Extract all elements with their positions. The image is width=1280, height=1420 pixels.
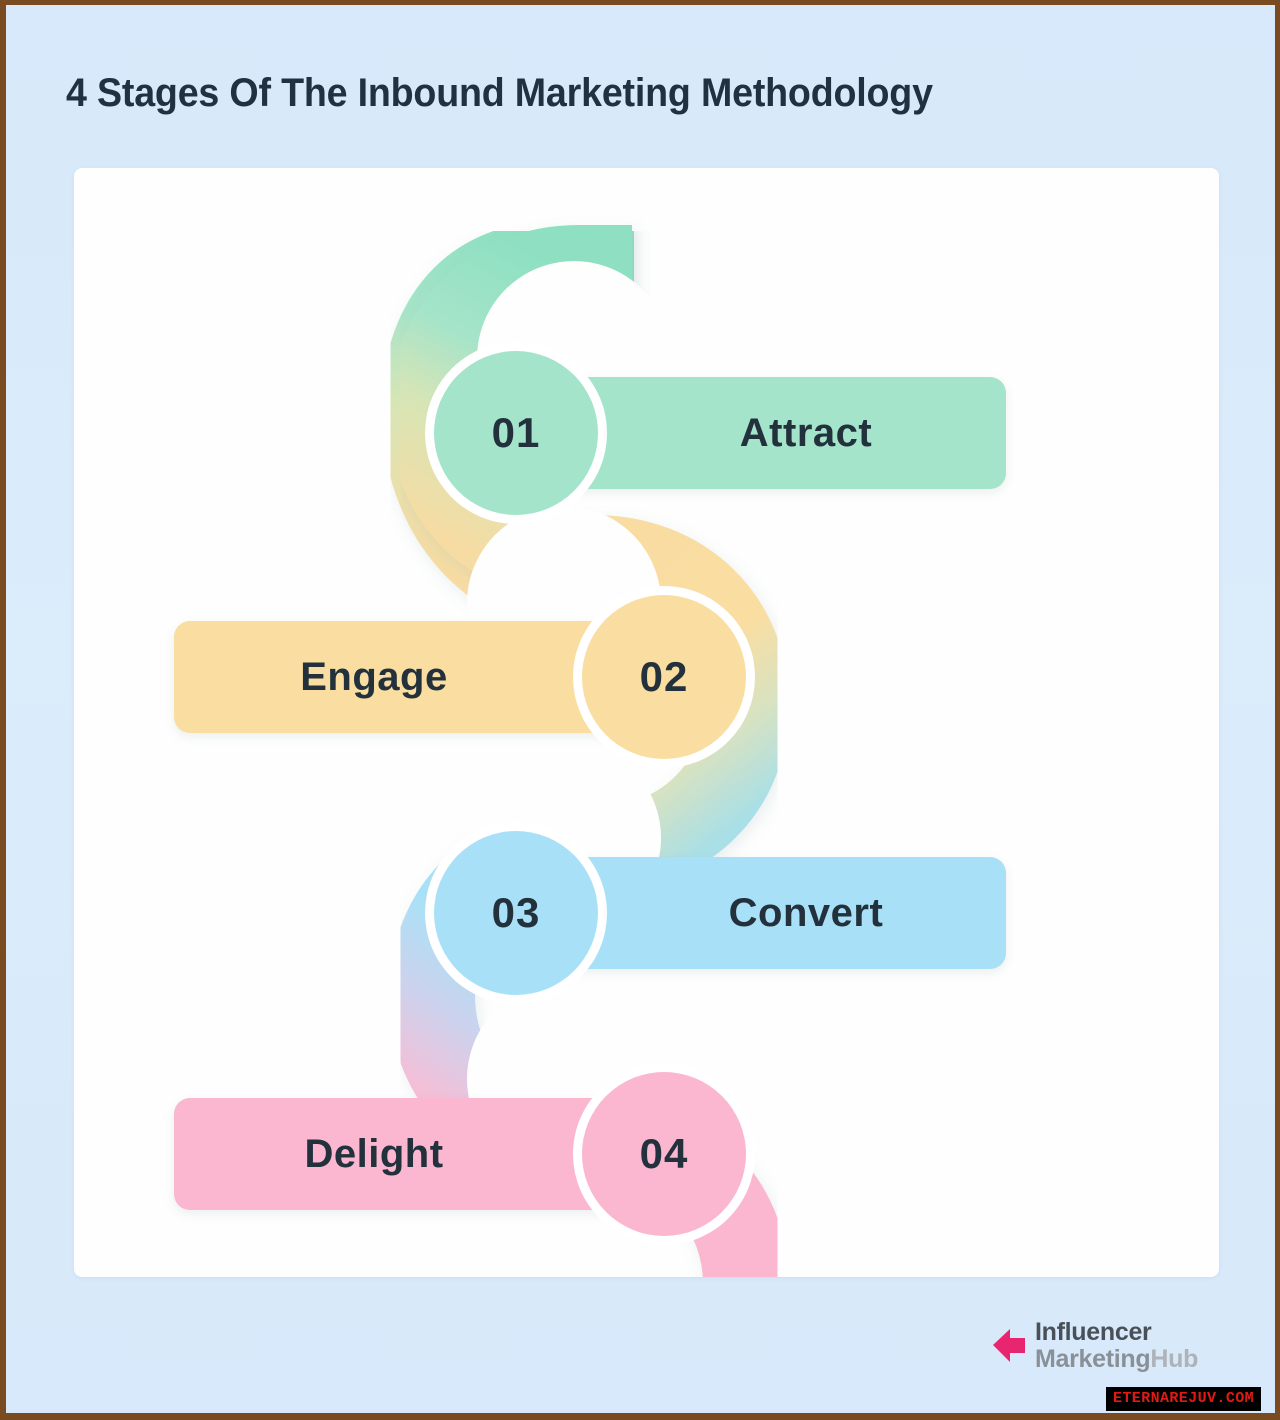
watermark-badge: ETERNAREJUV.COM: [1106, 1387, 1261, 1411]
stage-label-bar-01[interactable]: Attract: [536, 377, 1006, 489]
stage-number-03: 03: [492, 889, 541, 937]
stage-label-02: Engage: [300, 655, 447, 700]
stage-number-04: 04: [640, 1130, 689, 1178]
logo-line-marketinghub: MarketingHub: [1035, 1347, 1198, 1372]
logo-wordmark: Influencer MarketingHub: [1035, 1320, 1198, 1372]
diagram-card: 01 Attract 02 Engage 03: [74, 168, 1219, 1277]
logo-marketing-text: Marketing: [1035, 1345, 1150, 1373]
logo-hub-text: Hub: [1150, 1345, 1198, 1373]
stage-number-badge-02[interactable]: 02: [582, 595, 746, 759]
stage-number-badge-01[interactable]: 01: [434, 351, 598, 515]
brand-logo[interactable]: Influencer MarketingHub: [989, 1320, 1198, 1372]
stage-number-02: 02: [640, 653, 689, 701]
stage-number-badge-03[interactable]: 03: [434, 831, 598, 995]
stage-label-01: Attract: [740, 411, 872, 456]
stage-number-01: 01: [492, 409, 541, 457]
stage-label-03: Convert: [729, 891, 884, 936]
page-title: 4 Stages Of The Inbound Marketing Method…: [66, 71, 1156, 116]
stage-label-bar-03[interactable]: Convert: [536, 857, 1006, 969]
stage-number-badge-04[interactable]: 04: [582, 1072, 746, 1236]
infographic-canvas: 4 Stages Of The Inbound Marketing Method…: [6, 5, 1275, 1413]
left-arrow-icon: [989, 1325, 1029, 1367]
stage-label-bar-02[interactable]: Engage: [174, 621, 644, 733]
stage-row-02[interactable]: 02 Engage: [174, 602, 746, 752]
logo-line-influencer: Influencer: [1035, 1320, 1198, 1345]
stage-label-04: Delight: [304, 1132, 443, 1177]
image-frame: 4 Stages Of The Inbound Marketing Method…: [0, 0, 1280, 1420]
stage-row-03[interactable]: 03 Convert: [434, 838, 1006, 988]
stage-row-01[interactable]: 01 Attract: [434, 358, 1006, 508]
stage-label-bar-04[interactable]: Delight: [174, 1098, 644, 1210]
stage-row-04[interactable]: 04 Delight: [174, 1079, 746, 1229]
